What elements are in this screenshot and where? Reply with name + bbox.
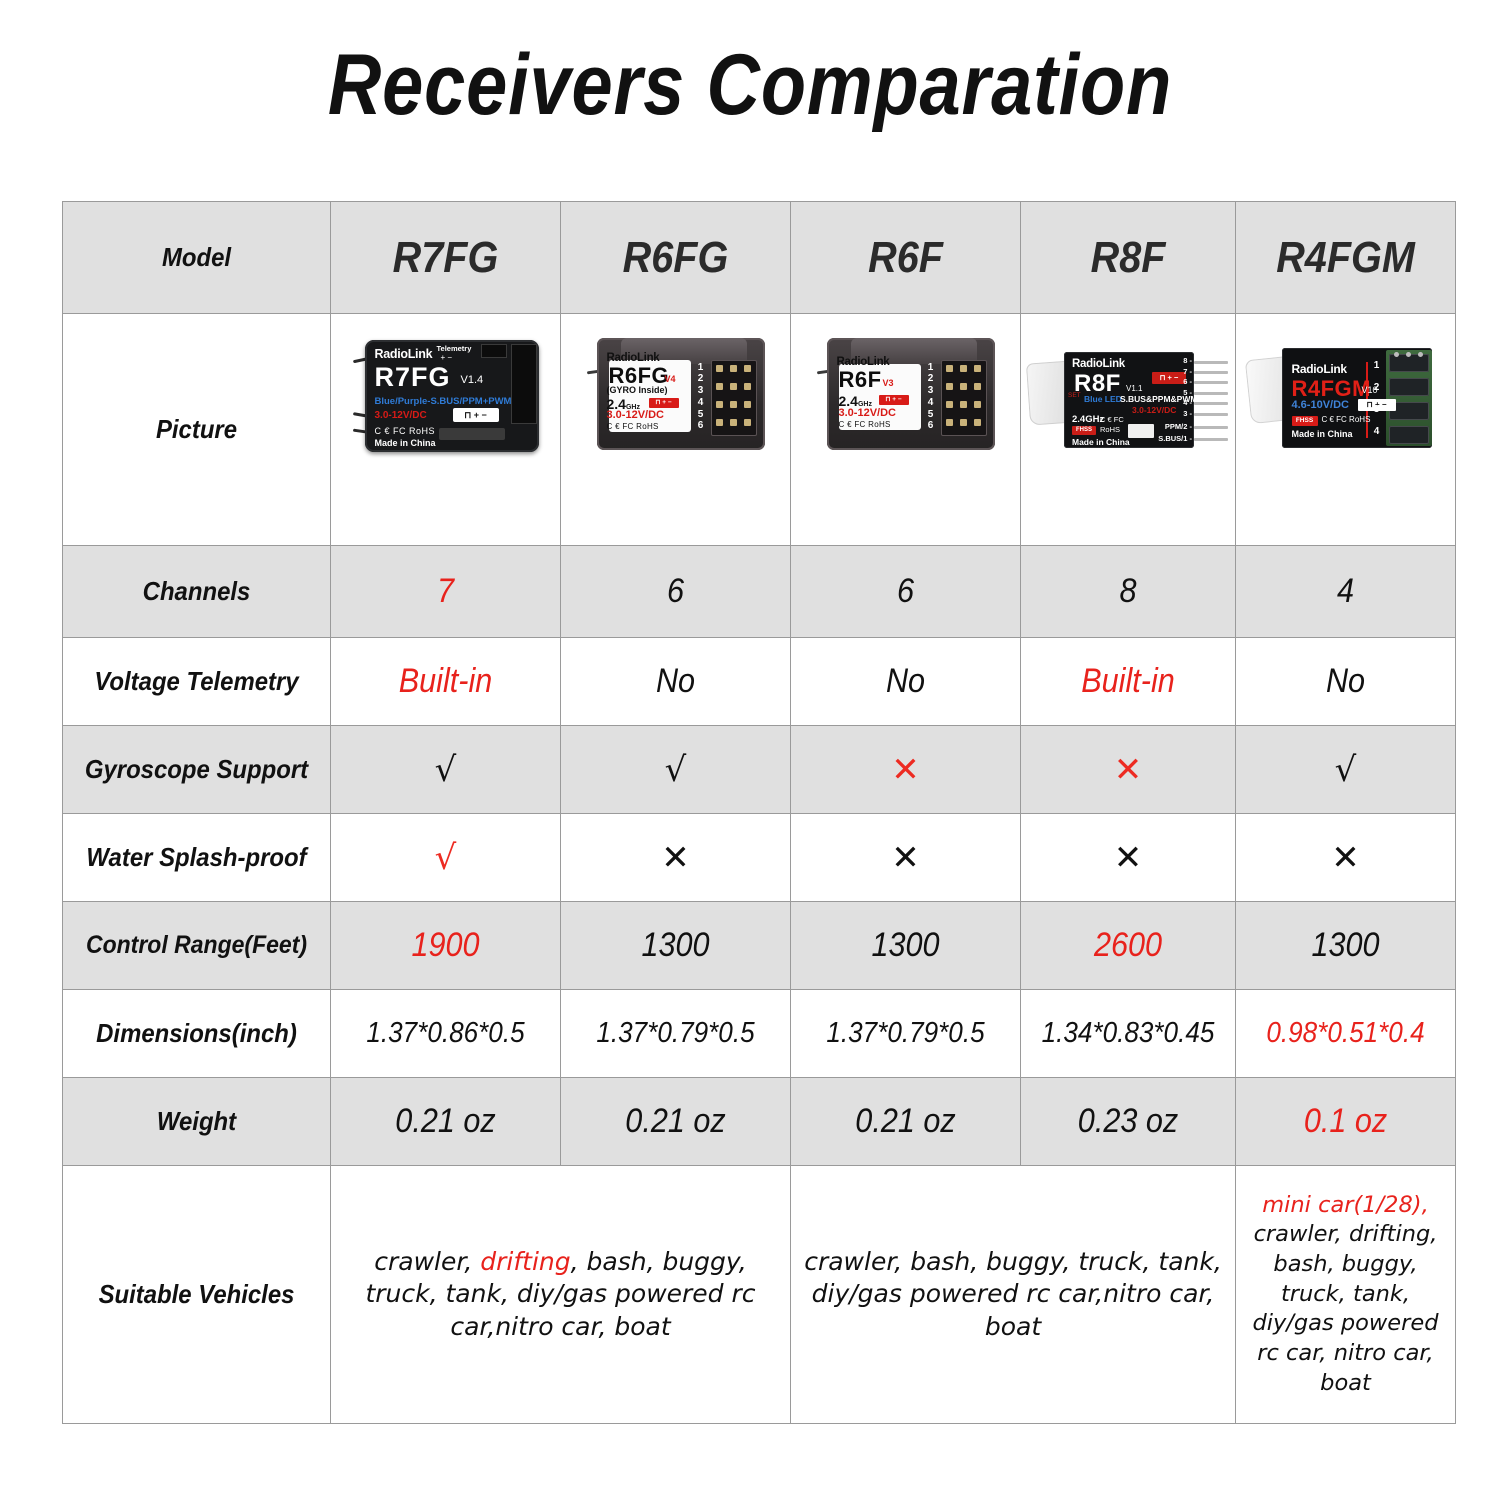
r4fgm-fhss-badge: FHSS xyxy=(1292,416,1318,426)
cell-voltage-r6fg: No xyxy=(561,638,791,726)
value-weight-r6fg: 0.21 oz xyxy=(572,1102,778,1141)
value-voltage-r6f: No xyxy=(802,662,1008,701)
r8f-pin-label-6: 6 - xyxy=(1183,377,1192,386)
r7fg-telemetry-text: Telemetry xyxy=(437,344,472,353)
cell-dimensions-r4fgm: 0.98*0.51*0.4 xyxy=(1236,990,1456,1078)
value-weight-r4fgm: 0.1 oz xyxy=(1247,1102,1444,1141)
r7fg-certs-text: C € FC RoHS xyxy=(375,426,436,436)
r8f-rohs-text: RoHS xyxy=(1100,425,1120,434)
product-image-r4fgm: RadioLink R4FGM V10 4.6-10V/DC ⊓ + − FHS… xyxy=(1236,324,1455,536)
r8f-pin-label-3: 3 - xyxy=(1183,409,1192,418)
rowlabel-weight: Weight xyxy=(74,1106,320,1137)
cell-dimensions-r8f: 1.34*0.83*0.45 xyxy=(1021,990,1236,1078)
r6fg-gyro-text: (GYRO Inside) xyxy=(607,385,668,395)
value-weight-r8f: 0.23 oz xyxy=(1032,1102,1225,1141)
rowlabel-cell-water-splash: Water Splash-proof xyxy=(63,814,331,902)
rowlabel-cell-dimensions: Dimensions(inch) xyxy=(63,990,331,1078)
r7fg-model-text: R7FG xyxy=(375,362,451,393)
rowlabel-gyroscope-support: Gyroscope Support xyxy=(74,754,320,785)
r8f-blue-led-text: Blue LED xyxy=(1084,394,1122,404)
model-name-r4fgm: R4FGM xyxy=(1247,233,1444,283)
value-voltage-r4fgm: No xyxy=(1247,662,1444,701)
r7fg-bottom-connector xyxy=(439,428,505,440)
table-row-weight: Weight 0.21 oz 0.21 oz 0.21 oz 0.23 oz 0… xyxy=(63,1078,1456,1166)
r8f-voltage-text: 3.0-12V/DC xyxy=(1132,405,1176,415)
cross-icon-water-r6fg: ✕ xyxy=(561,841,790,875)
rowlabel-cell-channels: Channels xyxy=(63,546,331,638)
cell-dimensions-r7fg: 1.37*0.86*0.5 xyxy=(331,990,561,1078)
value-voltage-r6fg: No xyxy=(572,662,778,701)
cell-voltage-r8f: Built-in xyxy=(1021,638,1236,726)
r6fg-voltage-text: 3.0-12V/DC xyxy=(607,409,664,421)
value-range-r8f: 2600 xyxy=(1032,926,1225,965)
cross-icon-gyro-r6f: ✕ xyxy=(791,753,1020,787)
value-voltage-r7fg: Built-in xyxy=(342,662,548,701)
product-image-r6f: RadioLink R6F V3 2.4GHz ⊓ + − 3.0-12V/DC… xyxy=(791,324,1020,536)
r4fgm-pin-numbers: 12 34 xyxy=(1370,360,1384,438)
vehicles-text-a-before: crawler, xyxy=(374,1247,480,1276)
rowlabel-water-splash-proof: Water Splash-proof xyxy=(74,842,320,873)
cell-dimensions-r6f: 1.37*0.79*0.5 xyxy=(791,990,1021,1078)
header-cell-r6f: R6F xyxy=(791,202,1021,314)
value-dimensions-r6f: 1.37*0.79*0.5 xyxy=(802,1017,1008,1050)
value-range-r6f: 1300 xyxy=(802,926,1008,965)
value-channels-r8f: 8 xyxy=(1032,572,1225,611)
page-title: Receivers Comparation xyxy=(105,36,1395,135)
table-header-row: Model R7FG R6FG R6F R8F R4FGM xyxy=(63,202,1456,314)
header-label-model: Model xyxy=(74,242,320,273)
product-image-r7fg: RadioLink Telemetry + − R7FG V1.4 Blue/P… xyxy=(331,324,560,536)
r6f-certs-text: C € FC RoHS xyxy=(839,420,891,429)
cell-range-r4fgm: 1300 xyxy=(1236,902,1456,990)
value-weight-r7fg: 0.21 oz xyxy=(342,1102,548,1141)
cell-weight-r6f: 0.21 oz xyxy=(791,1078,1021,1166)
rowlabel-cell-weight: Weight xyxy=(63,1078,331,1166)
r4fgm-certs-text: C € FC RoHS xyxy=(1322,415,1371,424)
rowlabel-cell-control-range: Control Range(Feet) xyxy=(63,902,331,990)
table-row-gyroscope-support: Gyroscope Support √ √ ✕ ✕ √ xyxy=(63,726,1456,814)
cell-channels-r4fgm: 4 xyxy=(1236,546,1456,638)
table-row-picture: Picture RadioLink Telemetry + − R7FG V1.… xyxy=(63,314,1456,546)
cell-channels-r6fg: 6 xyxy=(561,546,791,638)
r8f-certs-text: C € FC xyxy=(1100,415,1124,424)
table-row-channels: Channels 7 6 6 8 4 xyxy=(63,546,1456,638)
check-icon-gyro-r4fgm: √ xyxy=(1236,753,1455,787)
r8f-version-text: V1.1 xyxy=(1126,384,1142,393)
r6fg-version-text: V4 xyxy=(665,374,676,384)
cell-vehicles-r7fg-r6fg: crawler, drifting, bash, buggy, truck, t… xyxy=(331,1166,791,1424)
r6f-voltage-text: 3.0-12V/DC xyxy=(839,407,896,419)
r7fg-origin-text: Made in China xyxy=(375,438,436,448)
cell-voltage-r6f: No xyxy=(791,638,1021,726)
value-channels-r6f: 6 xyxy=(802,572,1008,611)
r8f-pin-label-sbus: S.BUS/1 - xyxy=(1158,434,1192,443)
cell-range-r6fg: 1300 xyxy=(561,902,791,990)
cell-voltage-r7fg: Built-in xyxy=(331,638,561,726)
rowlabel-cell-picture: Picture xyxy=(63,314,331,546)
rowlabel-suitable-vehicles: Suitable Vehicles xyxy=(74,1279,320,1310)
r8f-brand-text: RadioLink xyxy=(1072,358,1125,370)
r4fgm-origin-text: Made in China xyxy=(1292,429,1353,439)
r7fg-polarity-text: + − xyxy=(441,353,453,362)
rowlabel-cell-voltage-telemetry: Voltage Telemetry xyxy=(63,638,331,726)
cell-gyro-r7fg: √ xyxy=(331,726,561,814)
picture-cell-r6fg: RadioLink R6FG V4 (GYRO Inside) 2.4GHz ⊓… xyxy=(561,314,791,546)
r6fg-badge-icon: ⊓ + − xyxy=(649,398,679,408)
r8f-pin-label-ppm: PPM/2 - xyxy=(1165,422,1192,431)
check-icon-water-r7fg: √ xyxy=(331,841,560,875)
r8f-origin-text: Made in China xyxy=(1072,437,1130,447)
value-channels-r7fg: 7 xyxy=(342,572,548,611)
model-name-r7fg: R7FG xyxy=(342,233,548,283)
model-name-r6fg: R6FG xyxy=(572,233,778,283)
cross-icon-water-r8f: ✕ xyxy=(1021,841,1235,875)
table-row-dimensions: Dimensions(inch) 1.37*0.86*0.5 1.37*0.79… xyxy=(63,990,1456,1078)
cell-channels-r7fg: 7 xyxy=(331,546,561,638)
rowlabel-dimensions: Dimensions(inch) xyxy=(74,1018,320,1049)
value-range-r6fg: 1300 xyxy=(572,926,778,965)
picture-cell-r6f: RadioLink R6F V3 2.4GHz ⊓ + − 3.0-12V/DC… xyxy=(791,314,1021,546)
header-cell-model: Model xyxy=(63,202,331,314)
table-row-control-range: Control Range(Feet) 1900 1300 1300 2600 … xyxy=(63,902,1456,990)
r8f-pin-label-4: 4 - xyxy=(1183,398,1192,407)
cross-icon-water-r6f: ✕ xyxy=(791,841,1020,875)
header-cell-r7fg: R7FG xyxy=(331,202,561,314)
cross-icon-water-r4fgm: ✕ xyxy=(1236,841,1455,875)
r6fg-pin-header xyxy=(711,360,757,436)
r8f-pin-label-7: 7 - xyxy=(1183,367,1192,376)
value-weight-r6f: 0.21 oz xyxy=(802,1102,1008,1141)
picture-cell-r7fg: RadioLink Telemetry + − R7FG V1.4 Blue/P… xyxy=(331,314,561,546)
r6fg-certs-text: C € FC RoHS xyxy=(607,422,659,431)
cell-range-r6f: 1300 xyxy=(791,902,1021,990)
product-image-r6fg: RadioLink R6FG V4 (GYRO Inside) 2.4GHz ⊓… xyxy=(561,324,790,536)
r8f-bind-connector xyxy=(1128,424,1154,438)
model-name-r8f: R8F xyxy=(1032,233,1225,283)
picture-cell-r8f: RadioLink R8F V1.1 ⊓ + − SET Blue LED S.… xyxy=(1021,314,1236,546)
r6f-model-text: R6F xyxy=(839,367,882,393)
r4fgm-brand-text: RadioLink xyxy=(1292,362,1347,376)
cell-water-r7fg: √ xyxy=(331,814,561,902)
r7fg-voltage-text: 3.0-12V/DC xyxy=(375,410,427,421)
cell-gyro-r6fg: √ xyxy=(561,726,791,814)
value-range-r7fg: 1900 xyxy=(342,926,548,965)
r6f-pin-numbers: 12 34 56 xyxy=(923,362,939,432)
rowlabel-channels: Channels xyxy=(74,576,320,607)
cell-gyro-r6f: ✕ xyxy=(791,726,1021,814)
value-range-r4fgm: 1300 xyxy=(1247,926,1444,965)
vehicles-text-c-highlight: mini car(1/28), xyxy=(1262,1192,1428,1218)
cell-water-r6fg: ✕ xyxy=(561,814,791,902)
r6f-version-text: V3 xyxy=(883,378,894,388)
r8f-set-button-label: SET xyxy=(1068,392,1081,399)
cell-weight-r7fg: 0.21 oz xyxy=(331,1078,561,1166)
cell-voltage-r4fgm: No xyxy=(1236,638,1456,726)
rowlabel-cell-gyroscope: Gyroscope Support xyxy=(63,726,331,814)
r8f-pin-label-5: 5 - xyxy=(1183,388,1192,397)
r4fgm-voltage-text: 4.6-10V/DC xyxy=(1292,399,1349,411)
value-dimensions-r4fgm: 0.98*0.51*0.4 xyxy=(1247,1017,1444,1050)
cell-weight-r4fgm: 0.1 oz xyxy=(1236,1078,1456,1166)
receivers-comparison-table: Model R7FG R6FG R6F R8F R4FGM Picture xyxy=(62,201,1456,1424)
vehicles-text-a-highlight: drifting xyxy=(480,1247,570,1276)
vehicles-text-c-after: crawler, drifting, bash, buggy, truck, t… xyxy=(1252,1221,1438,1395)
cell-water-r8f: ✕ xyxy=(1021,814,1236,902)
header-cell-r6fg: R6FG xyxy=(561,202,791,314)
check-icon-gyro-r6fg: √ xyxy=(561,753,790,787)
table-row-water-splash-proof: Water Splash-proof √ ✕ ✕ ✕ ✕ xyxy=(63,814,1456,902)
rowlabel-control-range: Control Range(Feet) xyxy=(74,931,320,960)
value-channels-r6fg: 6 xyxy=(572,572,778,611)
cell-channels-r8f: 8 xyxy=(1021,546,1236,638)
rowlabel-picture: Picture xyxy=(74,414,320,445)
cell-water-r6f: ✕ xyxy=(791,814,1021,902)
r6fg-pin-numbers: 12 34 56 xyxy=(693,362,709,432)
table-row-suitable-vehicles: Suitable Vehicles crawler, drifting, bas… xyxy=(63,1166,1456,1424)
r6f-pin-header xyxy=(941,360,987,436)
r8f-badge-icon: ⊓ + − xyxy=(1152,372,1186,384)
cell-range-r8f: 2600 xyxy=(1021,902,1236,990)
cell-weight-r8f: 0.23 oz xyxy=(1021,1078,1236,1166)
cell-gyro-r8f: ✕ xyxy=(1021,726,1236,814)
check-icon-gyro-r7fg: √ xyxy=(331,753,560,787)
value-dimensions-r6fg: 1.37*0.79*0.5 xyxy=(572,1017,778,1050)
cell-weight-r6fg: 0.21 oz xyxy=(561,1078,791,1166)
rowlabel-voltage-telemetry: Voltage Telemetry xyxy=(74,666,320,697)
vehicles-text-b: crawler, bash, buggy, truck, tank, diy/g… xyxy=(804,1247,1222,1341)
rowlabel-cell-suitable-vehicles: Suitable Vehicles xyxy=(63,1166,331,1424)
cell-channels-r6f: 6 xyxy=(791,546,1021,638)
value-dimensions-r8f: 1.34*0.83*0.45 xyxy=(1032,1017,1225,1050)
header-cell-r8f: R8F xyxy=(1021,202,1236,314)
cell-gyro-r4fgm: √ xyxy=(1236,726,1456,814)
product-image-r8f: RadioLink R8F V1.1 ⊓ + − SET Blue LED S.… xyxy=(1021,324,1235,536)
value-dimensions-r7fg: 1.37*0.86*0.5 xyxy=(342,1017,548,1050)
value-channels-r4fgm: 4 xyxy=(1247,572,1444,611)
model-name-r6f: R6F xyxy=(802,233,1008,283)
picture-cell-r4fgm: RadioLink R4FGM V10 4.6-10V/DC ⊓ + − FHS… xyxy=(1236,314,1456,546)
r6f-badge-icon: ⊓ + − xyxy=(879,395,909,405)
r7fg-brand-text: RadioLink xyxy=(375,347,433,361)
cell-vehicles-r4fgm: mini car(1/28), crawler, drifting, bash,… xyxy=(1236,1166,1456,1424)
r8f-pin-label-8: 8 - xyxy=(1183,356,1192,365)
cross-icon-gyro-r8f: ✕ xyxy=(1021,753,1235,787)
r7fg-pin-header xyxy=(481,342,537,424)
table-row-voltage-telemetry: Voltage Telemetry Built-in No No Built-i… xyxy=(63,638,1456,726)
value-voltage-r8f: Built-in xyxy=(1032,662,1225,701)
cell-range-r7fg: 1900 xyxy=(331,902,561,990)
r8f-fhss-badge: FHSS xyxy=(1072,426,1096,435)
cell-water-r4fgm: ✕ xyxy=(1236,814,1456,902)
header-cell-r4fgm: R4FGM xyxy=(1236,202,1456,314)
cell-vehicles-r6f-r8f: crawler, bash, buggy, truck, tank, diy/g… xyxy=(791,1166,1236,1424)
cell-dimensions-r6fg: 1.37*0.79*0.5 xyxy=(561,990,791,1078)
